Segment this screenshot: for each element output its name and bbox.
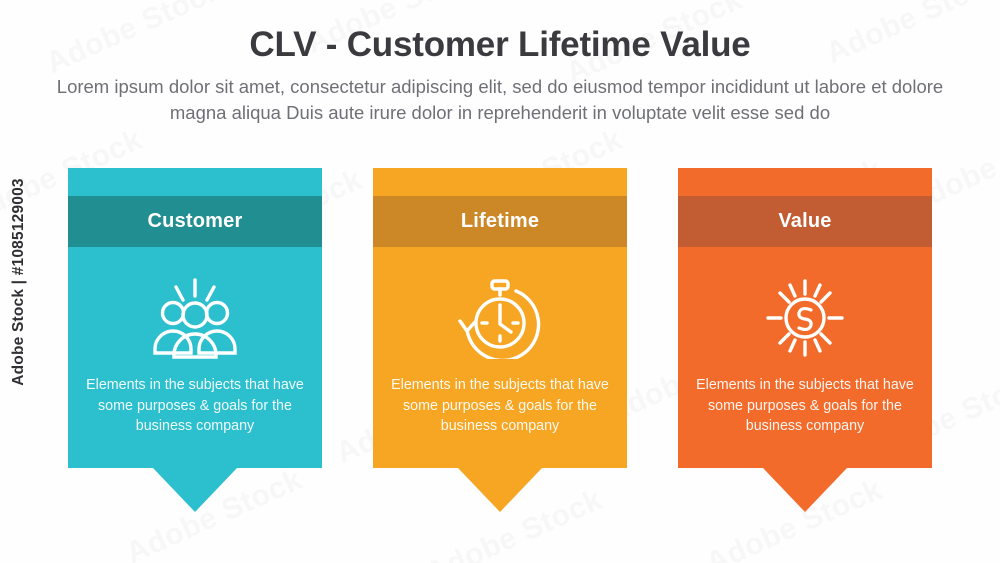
card-title-band: Customer — [68, 196, 322, 247]
card-lifetime[interactable]: Lifetime Elements in the subjects that h… — [373, 168, 627, 468]
card-title-band: Lifetime — [373, 196, 627, 247]
card-description: Elements in the subjects that have some … — [694, 375, 916, 437]
infographic-canvas: Adobe Stock Adobe Stock Adobe Stock Adob… — [0, 0, 1000, 563]
card-title: Customer — [148, 210, 243, 233]
card-description: Elements in the subjects that have some … — [84, 375, 306, 437]
card-value[interactable]: Value — [678, 168, 932, 468]
card-title: Lifetime — [461, 210, 539, 233]
card-group: Customer Elements in the subjects that h… — [0, 0, 1000, 563]
dollar-sun-icon — [678, 268, 932, 368]
people-group-icon — [68, 268, 322, 368]
card-title: Value — [778, 210, 831, 233]
card-pointer-tail — [458, 468, 542, 512]
card-pointer-tail — [763, 468, 847, 512]
card-pointer-tail — [153, 468, 237, 512]
card-customer[interactable]: Customer Elements in the subjects that h… — [68, 168, 322, 468]
card-title-band: Value — [678, 196, 932, 247]
stock-credit-text: Adobe Stock | #1085129003 — [10, 178, 28, 386]
stopwatch-icon — [373, 268, 627, 368]
card-description: Elements in the subjects that have some … — [389, 375, 611, 437]
stock-credit-label: Adobe Stock | #1085129003 — [0, 0, 38, 563]
